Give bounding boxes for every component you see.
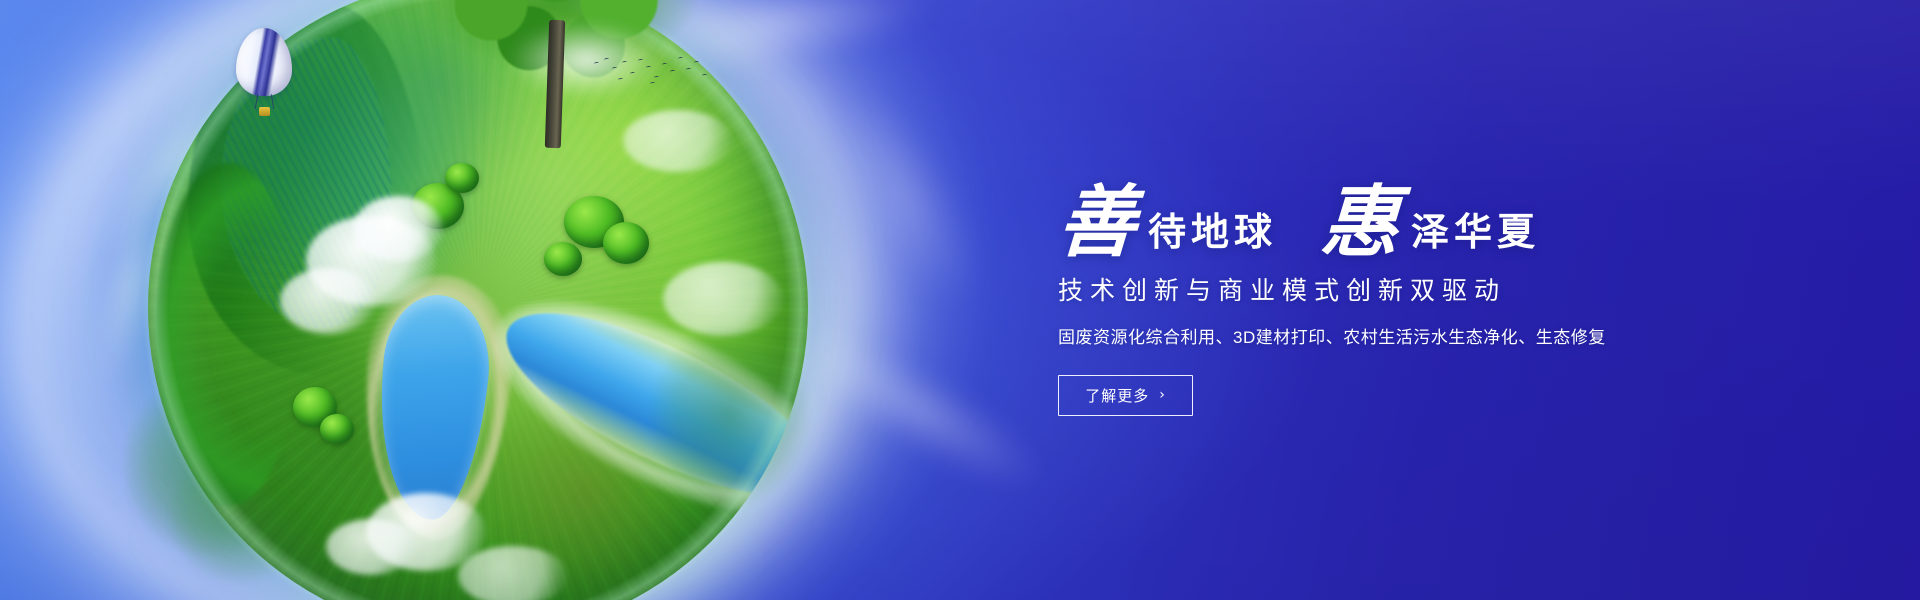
tree-clump bbox=[445, 163, 479, 193]
balloon-rope bbox=[271, 94, 275, 109]
cloud-puff bbox=[326, 519, 416, 575]
page-title: 善 待地球 惠 泽华夏 bbox=[1058, 184, 1818, 262]
tree-clump bbox=[544, 242, 582, 276]
learn-more-button[interactable]: 了解更多 › bbox=[1058, 375, 1193, 416]
hero-description: 固废资源化综合利用、3D建材打印、农村生活污水生态净化、生态修复 bbox=[1058, 326, 1818, 350]
foliage-silhouette bbox=[630, 300, 830, 530]
headline-text-1: 待地球 bbox=[1148, 214, 1277, 252]
hero-banner: 善 待地球 惠 泽华夏 技术创新与商业模式创新双驱动 固废资源化综合利用、3D建… bbox=[0, 0, 1920, 600]
hot-air-balloon-icon bbox=[236, 28, 292, 120]
tree-trunk bbox=[545, 20, 565, 148]
forest-limb bbox=[155, 163, 300, 506]
cloud-puff bbox=[280, 268, 376, 334]
balloon-basket bbox=[259, 107, 270, 116]
chevron-right-icon: › bbox=[1159, 388, 1166, 402]
headline-char-1: 善 bbox=[1056, 184, 1138, 262]
tree-clump bbox=[320, 414, 354, 444]
hero-subtitle: 技术创新与商业模式创新双驱动 bbox=[1058, 276, 1818, 306]
birds-flock-icon bbox=[592, 56, 712, 96]
hero-content: 善 待地球 惠 泽华夏 技术创新与商业模式创新双驱动 固废资源化综合利用、3D建… bbox=[1058, 0, 1818, 600]
headline-char-2: 惠 bbox=[1319, 184, 1401, 262]
balloon-rope bbox=[255, 94, 259, 109]
learn-more-label: 了解更多 bbox=[1085, 385, 1149, 406]
headline-text-2: 泽华夏 bbox=[1411, 214, 1540, 252]
cloud-puff bbox=[353, 196, 443, 262]
cloud-puff bbox=[458, 546, 568, 600]
balloon-envelope bbox=[236, 28, 292, 96]
